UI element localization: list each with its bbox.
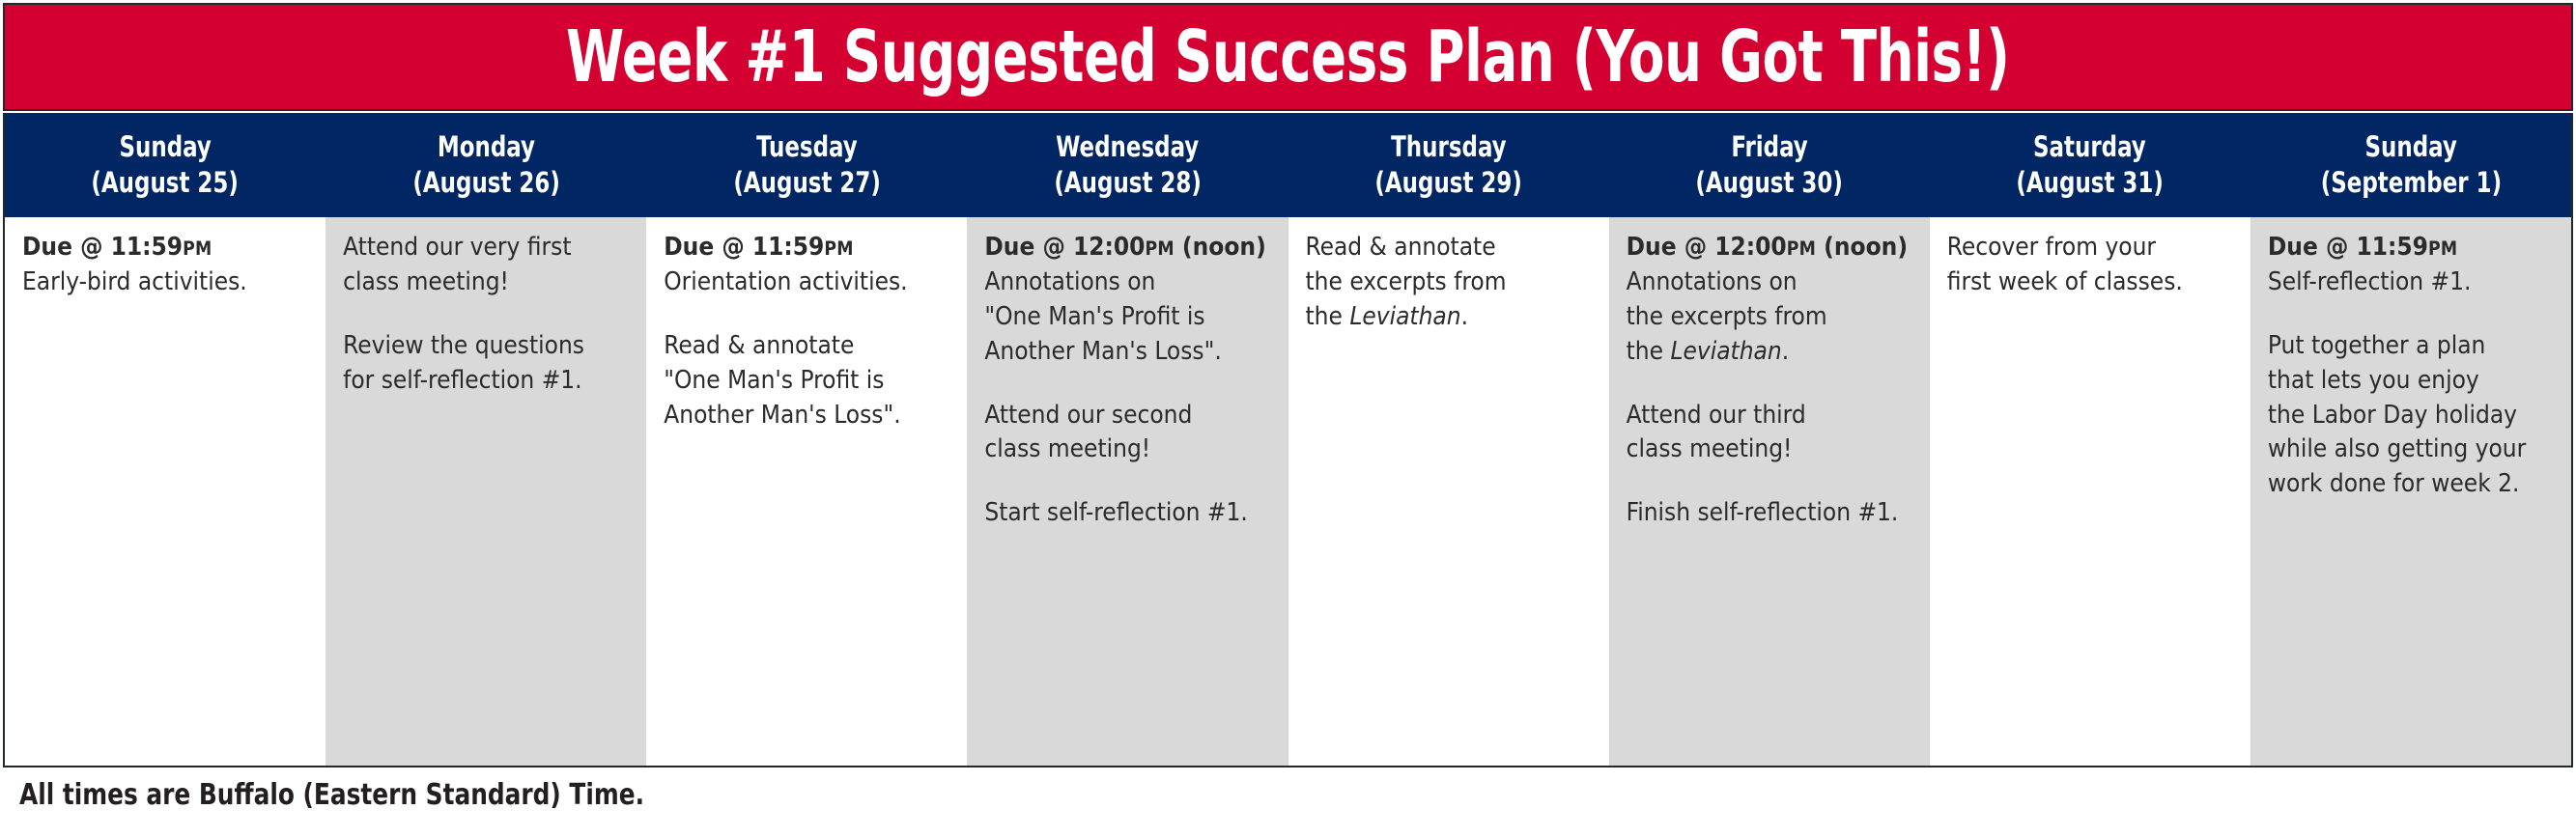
calendar-header-row: Sunday(August 25)Monday(August 26)Tuesda… <box>5 113 2571 217</box>
day-cell-monday-august-26: Attend our very firstclass meeting!Revie… <box>326 217 646 766</box>
column-header-tuesday-august-27: Tuesday(August 27) <box>646 113 967 217</box>
timezone-footnote: All times are Buffalo (Eastern Standard)… <box>19 778 644 812</box>
task-line: the Labor Day holiday <box>2268 399 2554 433</box>
column-header-day: Friday <box>1731 129 1807 165</box>
day-cell-sunday-september-1: Due @ 11:59PMSelf-reflection #1.Put toge… <box>2250 217 2571 766</box>
due-meridiem: PM <box>824 237 853 260</box>
task-line: the excerpts from <box>1627 300 1912 335</box>
task-line: Attend our third <box>1627 399 1912 433</box>
task-block: Review the questionsfor self-reflection … <box>343 329 629 399</box>
column-header-day: Monday <box>438 129 535 165</box>
task-line: Annotations on <box>1627 265 1912 300</box>
task-line: Put together a plan <box>2268 329 2554 364</box>
column-header-day: Wednesday <box>1056 129 1199 165</box>
task-line: the Leviathan. <box>1306 300 1592 335</box>
task-block: Read & annotate"One Man's Profit isAnoth… <box>664 329 949 433</box>
task-line: that lets you enjoy <box>2268 364 2554 399</box>
column-header-thursday-august-29: Thursday(August 29) <box>1288 113 1609 217</box>
task-line: first week of classes. <box>1947 265 2233 300</box>
column-header-day: Saturday <box>2033 129 2146 165</box>
task-line: class meeting! <box>343 265 629 300</box>
title-banner: Week #1 Suggested Success Plan (You Got … <box>3 3 2573 111</box>
task-line: Attend our very first <box>343 231 629 265</box>
due-meridiem: PM <box>1145 237 1174 260</box>
day-cell-friday-august-30: Due @ 12:00PM (noon)Annotations onthe ex… <box>1609 217 1930 766</box>
weekly-calendar-table: Sunday(August 25)Monday(August 26)Tuesda… <box>3 113 2573 767</box>
column-header-day: Sunday <box>119 129 211 165</box>
task-line: "One Man's Profit is <box>984 300 1270 335</box>
due-time: Due @ 11:59PM <box>664 231 949 265</box>
calendar-body-row: Due @ 11:59PMEarly-bird activities.Atten… <box>5 217 2571 766</box>
task-line: Early-bird activities. <box>22 265 308 300</box>
task-block: Attend our thirdclass meeting! <box>1627 399 1912 468</box>
task-block: Due @ 12:00PM (noon)Annotations on"One M… <box>984 231 1270 370</box>
column-header-saturday-august-31: Saturday(August 31) <box>1930 113 2250 217</box>
task-line: class meeting! <box>1627 432 1912 467</box>
due-time: Due @ 11:59PM <box>22 231 308 265</box>
due-time: Due @ 11:59PM <box>2268 231 2554 265</box>
task-line: Another Man's Loss". <box>664 399 949 433</box>
task-line: the Leviathan. <box>1627 335 1912 370</box>
column-header-date: (August 31) <box>2017 165 2164 201</box>
due-time: Due @ 12:00PM (noon) <box>1627 231 1912 265</box>
column-header-day: Thursday <box>1391 129 1506 165</box>
task-line: Annotations on <box>984 265 1270 300</box>
day-cell-sunday-august-25: Due @ 11:59PMEarly-bird activities. <box>5 217 326 766</box>
task-line: Finish self-reflection #1. <box>1627 496 1912 531</box>
task-line: Recover from your <box>1947 231 2233 265</box>
task-line: Another Man's Loss". <box>984 335 1270 370</box>
day-cell-thursday-august-29: Read & annotatethe excerpts fromthe Levi… <box>1288 217 1609 766</box>
page-title: Week #1 Suggested Success Plan (You Got … <box>566 21 2010 93</box>
task-line: while also getting your <box>2268 432 2554 467</box>
task-block: Attend our very firstclass meeting! <box>343 231 629 300</box>
task-block: Recover from yourfirst week of classes. <box>1947 231 2233 300</box>
day-cell-saturday-august-31: Recover from yourfirst week of classes. <box>1930 217 2250 766</box>
success-plan-sheet: Week #1 Suggested Success Plan (You Got … <box>0 0 2576 837</box>
column-header-day: Tuesday <box>756 129 858 165</box>
task-block: Due @ 11:59PMSelf-reflection #1. <box>2268 231 2554 300</box>
column-header-date: (August 25) <box>92 165 239 201</box>
task-block: Put together a planthat lets you enjoyth… <box>2268 329 2554 502</box>
column-header-date: (August 27) <box>733 165 880 201</box>
due-meridiem: PM <box>183 237 212 260</box>
column-header-date: (August 26) <box>412 165 559 201</box>
task-line: the excerpts from <box>1306 265 1592 300</box>
column-header-day: Sunday <box>2364 129 2456 165</box>
task-block: Start self-reflection #1. <box>984 496 1270 531</box>
task-line: class meeting! <box>984 432 1270 467</box>
day-cell-tuesday-august-27: Due @ 11:59PMOrientation activities.Read… <box>646 217 967 766</box>
task-block: Finish self-reflection #1. <box>1627 496 1912 531</box>
column-header-monday-august-26: Monday(August 26) <box>326 113 646 217</box>
task-line: Read & annotate <box>664 329 949 364</box>
task-line: Orientation activities. <box>664 265 949 300</box>
task-block: Due @ 11:59PMOrientation activities. <box>664 231 949 300</box>
column-header-date: (August 29) <box>1374 165 1521 201</box>
column-header-date: (August 30) <box>1695 165 1842 201</box>
column-header-sunday-september-1: Sunday(September 1) <box>2250 113 2571 217</box>
column-header-date: (September 1) <box>2320 165 2501 201</box>
task-block: Attend our secondclass meeting! <box>984 399 1270 468</box>
due-meridiem: PM <box>1787 237 1816 260</box>
task-block: Read & annotatethe excerpts fromthe Levi… <box>1306 231 1592 335</box>
task-block: Due @ 12:00PM (noon)Annotations onthe ex… <box>1627 231 1912 370</box>
task-line: "One Man's Profit is <box>664 364 949 399</box>
task-line: Self-reflection #1. <box>2268 265 2554 300</box>
task-line: Start self-reflection #1. <box>984 496 1270 531</box>
column-header-date: (August 28) <box>1054 165 1201 201</box>
task-line: work done for week 2. <box>2268 467 2554 502</box>
due-meridiem: PM <box>2428 237 2457 260</box>
task-block: Due @ 11:59PMEarly-bird activities. <box>22 231 308 300</box>
column-header-wednesday-august-28: Wednesday(August 28) <box>967 113 1288 217</box>
task-line: Read & annotate <box>1306 231 1592 265</box>
task-line: for self-reflection #1. <box>343 364 629 399</box>
task-line: Review the questions <box>343 329 629 364</box>
due-time: Due @ 12:00PM (noon) <box>984 231 1270 265</box>
task-line: Attend our second <box>984 399 1270 433</box>
day-cell-wednesday-august-28: Due @ 12:00PM (noon)Annotations on"One M… <box>967 217 1288 766</box>
column-header-sunday-august-25: Sunday(August 25) <box>5 113 326 217</box>
column-header-friday-august-30: Friday(August 30) <box>1609 113 1930 217</box>
